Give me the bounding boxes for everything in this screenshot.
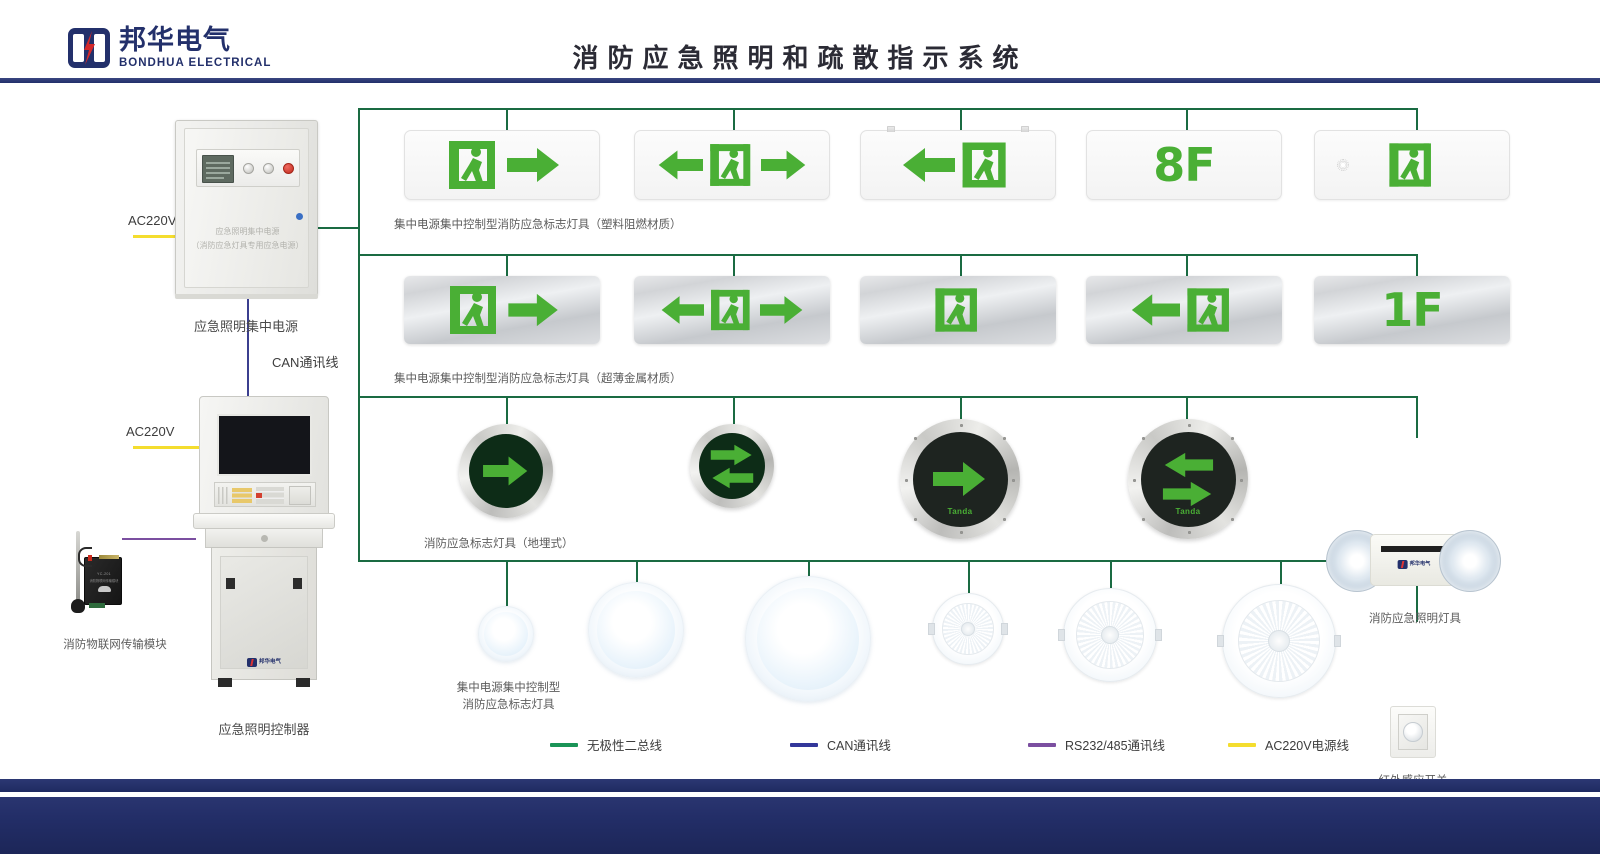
bus-drop-r2-2 bbox=[733, 254, 735, 276]
controller-drawer[interactable] bbox=[205, 528, 323, 548]
legend-swatch-green bbox=[550, 743, 578, 747]
bus-line-row2-trunk bbox=[358, 254, 1418, 256]
bus-line-row1-trunk bbox=[358, 108, 1418, 110]
lamp-head-right bbox=[1439, 530, 1501, 592]
iot-badge-line1: YC-201 bbox=[85, 572, 123, 576]
arrow-left-icon bbox=[660, 293, 704, 327]
bus-drop-r3-4 bbox=[1186, 396, 1188, 419]
floor-label-1f: 1F bbox=[1381, 287, 1442, 333]
controller-cabinet-body: 邦华电气 bbox=[211, 547, 317, 680]
cabinet-knob-2[interactable] bbox=[263, 163, 274, 174]
emergency-lighting-controller[interactable]: 邦华电气 bbox=[193, 396, 335, 696]
ground-light-brand: Tanda bbox=[913, 507, 1008, 516]
footer-bar-bottom bbox=[0, 797, 1600, 854]
sign-plastic-exit-plain[interactable] bbox=[1314, 130, 1510, 200]
downlight-small[interactable] bbox=[932, 593, 1004, 665]
system-diagram-page: 邦华电气 BONDHUA ELECTRICAL 消防应急照明和疏散指示系统 bbox=[0, 0, 1600, 859]
cabinet-lcd-display bbox=[202, 155, 234, 183]
controller-brand-mark: 邦华电气 bbox=[247, 658, 281, 667]
ac220v-label-bottom: AC220V bbox=[126, 424, 174, 439]
downlight-large[interactable] bbox=[1222, 584, 1336, 698]
arrow-right-icon bbox=[761, 147, 807, 183]
arrow-right-icon bbox=[710, 444, 754, 466]
legend-label-1: CAN通讯线 bbox=[827, 735, 891, 754]
emergency-power-cabinet[interactable]: 应急照明集中电源 （消防应急灯具专用应急电源） bbox=[175, 120, 318, 296]
sign-metal-exit-both[interactable] bbox=[634, 276, 830, 344]
bus-drop-r1-2 bbox=[733, 108, 735, 130]
controller-screen[interactable] bbox=[217, 414, 312, 476]
sign-metal-exit-right[interactable] bbox=[404, 276, 600, 344]
bus-drop-r1-5 bbox=[1416, 108, 1418, 130]
arrow-right-icon bbox=[760, 293, 804, 327]
antenna-base bbox=[71, 599, 85, 613]
bus-line-row3-trunk bbox=[358, 396, 1418, 398]
bus-line-from-cabinet bbox=[318, 227, 360, 229]
row1-caption: 集中电源集中控制型消防应急标志灯具（塑料阻燃材质） bbox=[394, 217, 682, 234]
arrow-right-icon bbox=[1158, 481, 1218, 507]
arrow-right-icon bbox=[508, 291, 560, 329]
footer-bar-top bbox=[0, 779, 1600, 792]
row4-caption: 集中电源集中控制型 消防应急标志灯具 bbox=[426, 680, 591, 713]
ground-light-large-arrow-left-right[interactable]: Tanda bbox=[1128, 419, 1248, 539]
controller-desk bbox=[193, 513, 335, 529]
arrow-right-icon bbox=[929, 459, 991, 499]
bus-drop-r4-1 bbox=[506, 560, 508, 606]
bus-drop-r4-3 bbox=[808, 560, 810, 576]
iot-brand-mark bbox=[85, 579, 123, 597]
bus-drop-r3-3 bbox=[960, 396, 962, 419]
legend-label-0: 无极性二总线 bbox=[587, 735, 662, 754]
bus-drop-r1-4 bbox=[1186, 108, 1188, 130]
bus-drop-r3-2 bbox=[733, 396, 735, 424]
dual-light-brand-mark: 邦华电气 bbox=[1398, 560, 1431, 569]
arrow-left-icon bbox=[657, 147, 703, 183]
sign-plastic-exit-both[interactable] bbox=[634, 130, 830, 200]
bus-drop-r1-1 bbox=[506, 108, 508, 130]
legend-swatch-yellow bbox=[1228, 743, 1256, 747]
cabinet-knob-1[interactable] bbox=[243, 163, 254, 174]
bus-drop-r2-4 bbox=[1186, 254, 1188, 276]
row2-caption: 集中电源集中控制型消防应急标志灯具（超薄金属材质） bbox=[394, 371, 682, 388]
bus-drop-r1-3 bbox=[960, 108, 962, 130]
exit-left-icon bbox=[1130, 285, 1238, 335]
row4-caption-line2: 消防应急标志灯具 bbox=[426, 697, 591, 714]
page-title: 消防应急照明和疏散指示系统 bbox=[0, 38, 1600, 75]
exit-right-icon bbox=[444, 284, 560, 336]
sign-metal-exit-left[interactable] bbox=[1086, 276, 1282, 344]
cabinet-face-line2: （消防应急灯具专用应急电源） bbox=[176, 239, 319, 253]
sign-metal-floor-1f[interactable]: 1F bbox=[1314, 276, 1510, 344]
arrow-left-icon bbox=[1158, 452, 1218, 478]
bus-drop-r4-6 bbox=[1280, 560, 1282, 584]
bus-drop-r4-2 bbox=[636, 560, 638, 582]
dual-brand-cn: 邦华电气 bbox=[1410, 561, 1431, 567]
ceiling-light-medium[interactable] bbox=[588, 582, 684, 678]
ground-light-large-arrow-right[interactable]: Tanda bbox=[900, 419, 1020, 539]
legend-item-0: 无极性二总线 bbox=[550, 735, 662, 754]
arrow-right-icon bbox=[507, 145, 561, 185]
exit-both-icon bbox=[660, 286, 804, 334]
controller-brand-cn: 邦华电气 bbox=[259, 659, 281, 665]
can-bus-label: CAN通讯线 bbox=[272, 352, 338, 371]
dual-light-caption: 消防应急照明灯具 bbox=[1330, 611, 1500, 628]
bus-drop-r4-5 bbox=[1110, 560, 1112, 588]
cabinet-control-panel[interactable] bbox=[196, 149, 300, 187]
row4-caption-line1: 集中电源集中控制型 bbox=[426, 680, 591, 697]
bus-line-vertical-main bbox=[358, 108, 360, 560]
bus-drop-r2-3 bbox=[960, 254, 962, 276]
sign-metal-exit-plain[interactable] bbox=[860, 276, 1056, 344]
cabinet-face-text: 应急照明集中电源 （消防应急灯具专用应急电源） bbox=[176, 225, 319, 252]
downlight-medium[interactable] bbox=[1063, 588, 1157, 682]
legend-label-3: AC220V电源线 bbox=[1265, 735, 1349, 754]
bus-drop-r3-1 bbox=[506, 396, 508, 424]
cabinet-alarm-button[interactable] bbox=[283, 163, 294, 174]
rs232-line bbox=[122, 538, 196, 540]
diagram-canvas: AC220V CAN通讯线 AC220V 应急照明集中电源 （消防应急灯具专用应… bbox=[0, 86, 1600, 756]
bus-drop-r3-5 bbox=[1416, 396, 1418, 438]
bus-drop-r2-5 bbox=[1416, 254, 1418, 276]
bus-drop-r2-1 bbox=[506, 254, 508, 276]
page-header: 邦华电气 BONDHUA ELECTRICAL 消防应急照明和疏散指示系统 bbox=[0, 0, 1600, 86]
can-bus-line bbox=[247, 299, 249, 399]
dual-head-emergency-light[interactable]: 邦华电气 bbox=[1326, 530, 1501, 592]
lock-icon bbox=[261, 535, 268, 542]
exit-plain-icon bbox=[930, 285, 986, 335]
legend-swatch-blue bbox=[790, 743, 818, 747]
legend-item-2: RS232/485通讯线 bbox=[1028, 735, 1165, 754]
cabinet-face-line1: 应急照明集中电源 bbox=[176, 225, 319, 239]
arrow-left-icon bbox=[1130, 291, 1180, 329]
floor-label-8f: 8F bbox=[1153, 142, 1214, 188]
controller-printer-slot bbox=[289, 486, 311, 505]
antenna-icon bbox=[76, 531, 80, 603]
legend-item-3: AC220V电源线 bbox=[1228, 735, 1349, 754]
sign-plastic-floor-8f[interactable]: 8F bbox=[1086, 130, 1282, 200]
header-divider bbox=[0, 78, 1600, 83]
controller-red-button[interactable] bbox=[256, 493, 262, 498]
cloud-icon bbox=[98, 586, 111, 592]
ground-light-brand: Tanda bbox=[1141, 507, 1236, 516]
legend: 无极性二总线 CAN通讯线 RS232/485通讯线 AC220V电源线 bbox=[0, 735, 1600, 757]
legend-item-1: CAN通讯线 bbox=[790, 735, 891, 754]
cabinet-status-led bbox=[296, 213, 303, 220]
power-cabinet-caption: 应急照明集中电源 bbox=[146, 318, 346, 337]
legend-label-2: RS232/485通讯线 bbox=[1065, 735, 1165, 754]
bus-drop-r4-4 bbox=[968, 560, 970, 593]
legend-swatch-purple bbox=[1028, 743, 1056, 747]
row3-caption: 消防应急标志灯具（地埋式） bbox=[424, 536, 574, 553]
cabinet-base bbox=[175, 294, 318, 299]
controller-head bbox=[199, 396, 329, 514]
ceiling-light-large[interactable] bbox=[745, 576, 871, 702]
sensor-dot-icon bbox=[1337, 159, 1349, 171]
bus-line-row4-trunk bbox=[358, 560, 1418, 562]
exit-plain-icon bbox=[1384, 140, 1440, 190]
fire-iot-transmission-module[interactable]: YC-201 消防物联网传输模块 bbox=[62, 531, 122, 621]
exit-left-icon bbox=[901, 140, 1015, 190]
ceiling-light-small[interactable] bbox=[478, 606, 534, 662]
ground-light-arrow-right[interactable] bbox=[459, 424, 553, 518]
iot-module-caption: 消防物联网传输模块 bbox=[30, 637, 200, 654]
arrow-right-icon bbox=[480, 454, 532, 488]
controller-keypad[interactable] bbox=[214, 482, 316, 507]
exit-right-icon bbox=[443, 139, 561, 191]
sign-plastic-exit-right[interactable] bbox=[404, 130, 600, 200]
arrow-left-icon bbox=[901, 145, 955, 185]
ground-light-arrow-right-left[interactable] bbox=[690, 424, 774, 508]
sign-plastic-exit-left[interactable] bbox=[860, 130, 1056, 200]
iot-module-body: YC-201 消防物联网传输模块 bbox=[84, 557, 122, 605]
ac220v-label-top: AC220V bbox=[128, 213, 176, 228]
exit-both-icon bbox=[657, 140, 807, 190]
arrow-left-icon bbox=[710, 467, 754, 489]
